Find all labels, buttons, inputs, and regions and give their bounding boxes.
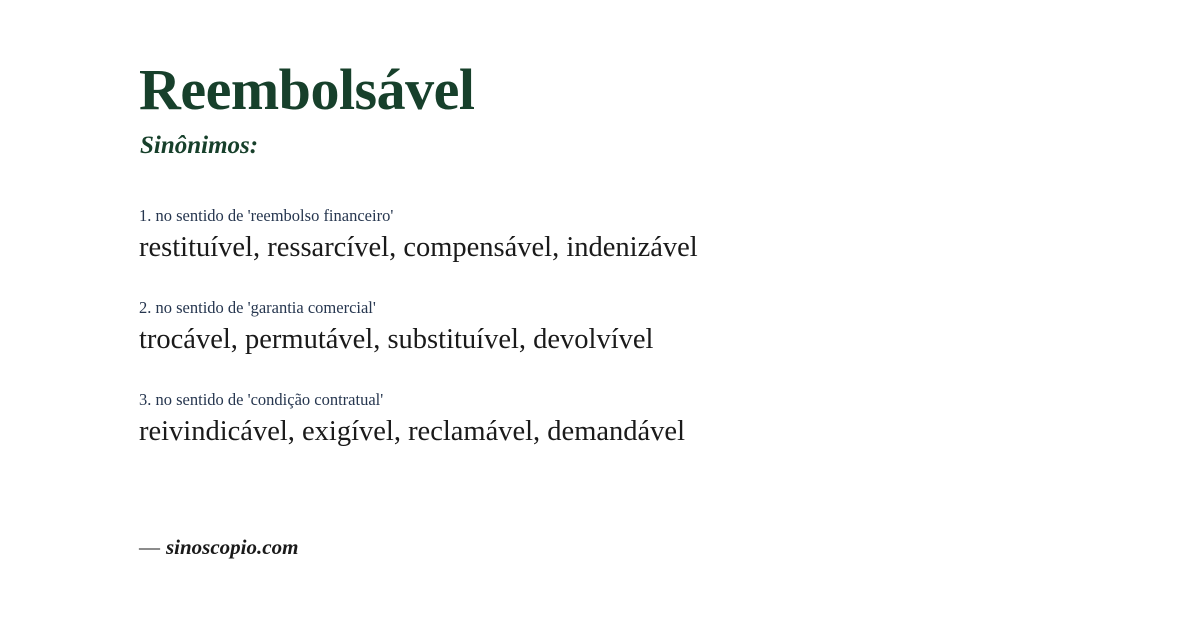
list-item: 2. no sentido de 'garantia comercial' tr… bbox=[139, 298, 1039, 358]
attribution: —sinoscopio.com bbox=[139, 535, 298, 560]
sense-list: 1. no sentido de 'reembolso financeiro' … bbox=[139, 206, 1039, 450]
sense-label: 2. no sentido de 'garantia comercial' bbox=[139, 298, 1039, 319]
sense-synonyms: reivindicável, exigível, reclamável, dem… bbox=[139, 414, 1039, 450]
attribution-source: sinoscopio.com bbox=[166, 535, 298, 559]
page-title: Reembolsável bbox=[139, 61, 475, 119]
list-item: 3. no sentido de 'condição contratual' r… bbox=[139, 390, 1039, 450]
sense-label: 3. no sentido de 'condição contratual' bbox=[139, 390, 1039, 411]
thesaurus-card: Reembolsável Sinônimos: 1. no sentido de… bbox=[0, 0, 1200, 628]
synonyms-heading: Sinônimos: bbox=[140, 133, 258, 158]
sense-synonyms: trocável, permutável, substituível, devo… bbox=[139, 322, 1039, 358]
em-dash-icon: — bbox=[139, 535, 166, 559]
sense-label: 1. no sentido de 'reembolso financeiro' bbox=[139, 206, 1039, 227]
list-item: 1. no sentido de 'reembolso financeiro' … bbox=[139, 206, 1039, 266]
sense-synonyms: restituível, ressarcível, compensável, i… bbox=[139, 230, 1039, 266]
